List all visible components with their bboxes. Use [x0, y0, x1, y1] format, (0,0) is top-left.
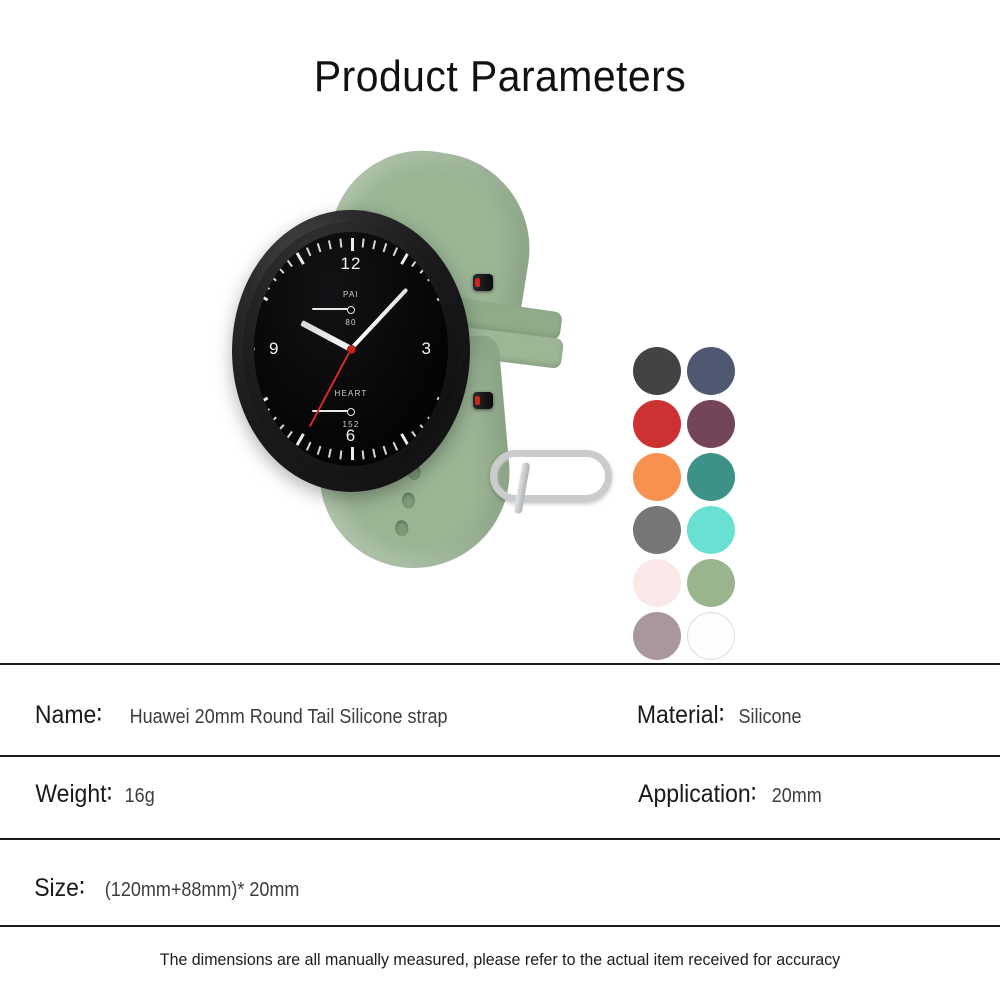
- watch-numeral-3: 3: [422, 339, 432, 359]
- subdial-pai-value: 80: [345, 318, 356, 327]
- watch-second-hand: [309, 349, 352, 428]
- color-swatch-sage-green[interactable]: [687, 559, 735, 607]
- spec-value-weight: 16g: [125, 785, 155, 808]
- page-title: Product Parameters: [35, 52, 965, 102]
- strap-hole: [395, 520, 409, 537]
- spec-label-material: Material∶: [637, 700, 725, 730]
- subdial-pai-label: PAI: [343, 290, 359, 299]
- color-swatch-gray[interactable]: [633, 506, 681, 554]
- color-swatch-plum[interactable]: [687, 400, 735, 448]
- watch-face: 12 3 6 9 PAI 80 HEART 152: [254, 232, 448, 466]
- spec-row-name: Name∶ Huawei 20mm Round Tail Silicone st…: [32, 700, 465, 730]
- spec-value-application: 20mm: [772, 785, 822, 808]
- spec-row-weight: Weight∶ 16g: [32, 779, 156, 809]
- spec-label-weight: Weight∶: [35, 779, 112, 809]
- color-swatch-red[interactable]: [633, 400, 681, 448]
- divider-1: [0, 663, 1000, 665]
- watch-button-bottom-accent: [475, 396, 480, 405]
- spec-value-name: Huawei 20mm Round Tail Silicone strap: [130, 706, 448, 729]
- divider-4: [0, 925, 1000, 927]
- color-swatch-turquoise[interactable]: [687, 506, 735, 554]
- color-swatch-charcoal[interactable]: [633, 347, 681, 395]
- watch-numeral-6: 6: [346, 426, 356, 446]
- watch-numeral-12: 12: [341, 254, 362, 274]
- product-parameters-page: Product Parameters: [0, 0, 1000, 1000]
- strap-buckle: [490, 450, 612, 502]
- watch-hand-pivot: [347, 345, 356, 354]
- subdial-heart-label: HEART: [335, 389, 368, 398]
- divider-2: [0, 755, 1000, 757]
- color-swatch-slate-blue[interactable]: [687, 347, 735, 395]
- spec-value-material: Silicone: [739, 706, 802, 729]
- spec-row-application: Application∶ 20mm: [633, 779, 824, 809]
- spec-row-size: Size∶ (120mm+88mm)* 20mm: [32, 873, 310, 903]
- color-swatch-pale-pink[interactable]: [633, 559, 681, 607]
- spec-label-name: Name∶: [35, 700, 102, 730]
- divider-3: [0, 838, 1000, 840]
- subdial-heart-value: 152: [343, 420, 360, 429]
- color-swatch-grid: [633, 347, 735, 660]
- color-swatch-mauve[interactable]: [633, 612, 681, 660]
- smartwatch: 12 3 6 9 PAI 80 HEART 152: [232, 210, 482, 500]
- color-swatch-white[interactable]: [687, 612, 735, 660]
- watch-button-top-accent: [475, 278, 480, 287]
- spec-label-application: Application∶: [638, 779, 757, 809]
- subdial-pai-hand: [312, 308, 352, 310]
- color-swatch-orange[interactable]: [633, 453, 681, 501]
- color-swatch-teal[interactable]: [687, 453, 735, 501]
- spec-label-size: Size∶: [34, 873, 85, 903]
- spec-row-material: Material∶ Silicone: [633, 700, 805, 730]
- measurement-disclaimer: The dimensions are all manually measured…: [30, 950, 970, 970]
- watch-numeral-9: 9: [269, 339, 279, 359]
- spec-value-size: (120mm+88mm)* 20mm: [105, 879, 300, 902]
- product-hero-image: 12 3 6 9 PAI 80 HEART 152: [0, 130, 1000, 630]
